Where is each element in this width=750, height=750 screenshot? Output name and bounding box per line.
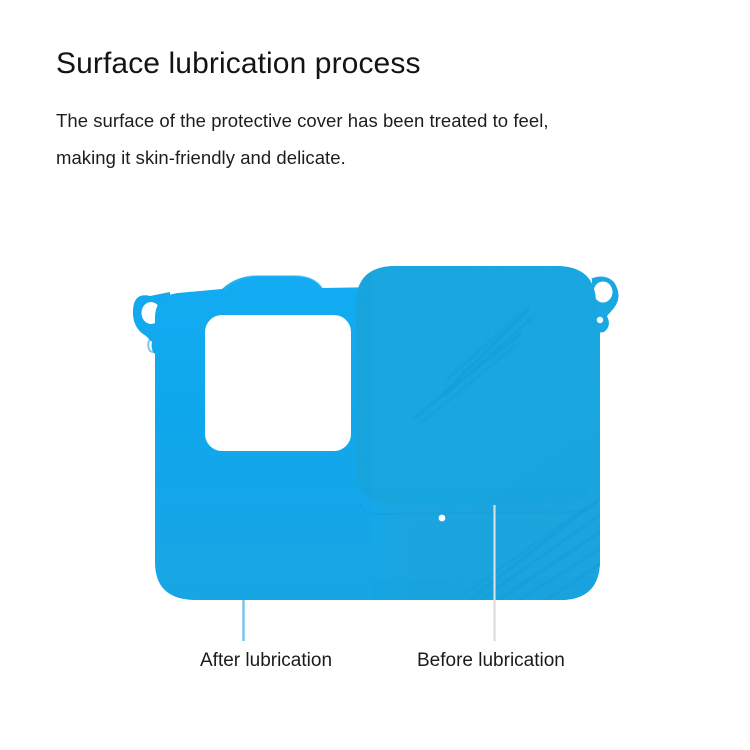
page-title: Surface lubrication process: [56, 44, 696, 84]
callout-label-after: After lubrication: [200, 650, 332, 672]
product-feature-page: Surface lubrication process The surface …: [0, 0, 750, 750]
copy-block: Surface lubrication process The surface …: [56, 44, 696, 176]
callout-label-before: Before lubrication: [417, 650, 565, 672]
lanyard-loop-left: [133, 292, 170, 356]
microphone-hole: [439, 515, 446, 522]
lens-cover-flap: [350, 260, 604, 514]
case-body: [155, 250, 646, 630]
description-line-2: making it skin-friendly and delicate.: [56, 139, 696, 176]
surface-creases-flap: [414, 306, 534, 424]
description-line-1: The surface of the protective cover has …: [56, 102, 696, 139]
surface-creases-body: [462, 498, 608, 604]
screen-cutout: [205, 315, 351, 451]
lanyard-loop-right: [588, 276, 619, 334]
